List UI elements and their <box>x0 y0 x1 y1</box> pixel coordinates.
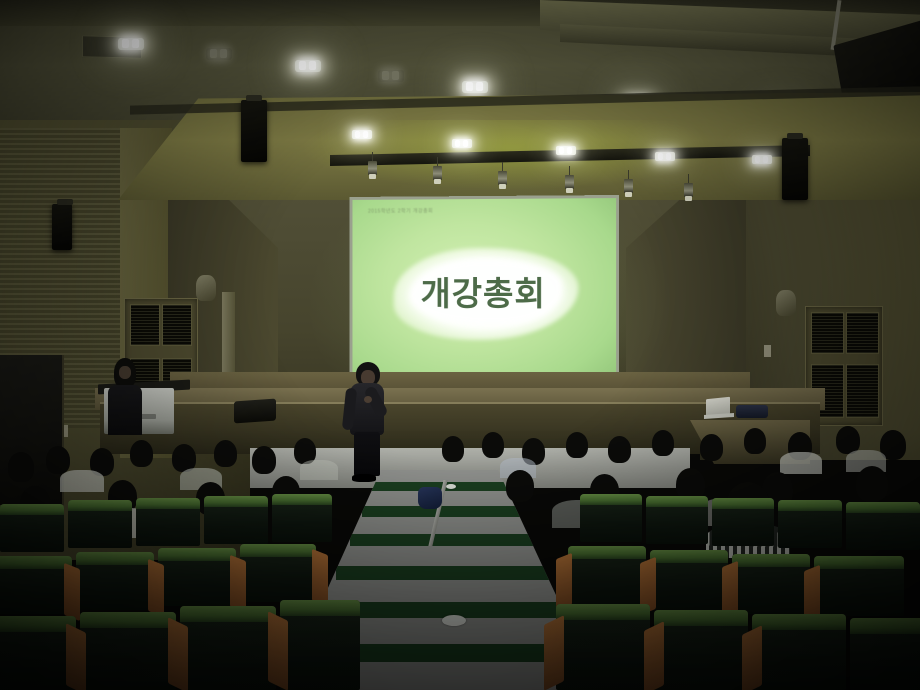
audience-head <box>46 446 70 474</box>
right-vent-louver <box>811 312 844 354</box>
right-vent-louver <box>846 312 879 354</box>
left-vent-louver <box>130 304 160 346</box>
pa-speaker-right <box>782 138 808 200</box>
auditorium-seat[interactable] <box>654 610 748 690</box>
auditorium-seat[interactable] <box>0 556 72 614</box>
equipment-case <box>736 405 768 418</box>
aisle-step-tread <box>350 534 555 546</box>
pa-speaker-side-left <box>52 204 72 250</box>
seat-cushion-top <box>0 616 76 632</box>
slide-title-text: 개강총회 <box>352 267 616 315</box>
auditorium-seat[interactable] <box>712 498 774 546</box>
left-wall-dark-panel <box>0 355 64 505</box>
presenter-shoes <box>352 474 376 482</box>
aisle-step-tread <box>362 506 542 517</box>
soffit-downlight <box>655 152 675 161</box>
auditorium-seat[interactable] <box>204 496 268 544</box>
wall-switch-plate-right[interactable] <box>764 345 771 357</box>
auditorium-seat[interactable] <box>752 614 846 690</box>
audience-head <box>744 428 766 454</box>
slide-header-text: 2015학년도 2학기 개강총회 <box>368 207 433 214</box>
seat-cushion-top <box>646 496 708 507</box>
seat-cushion-top <box>280 600 360 616</box>
auditorium-seat[interactable] <box>646 496 708 544</box>
audience-shoulders <box>300 460 338 480</box>
soffit-downlight <box>752 155 772 164</box>
ceiling-fixture-off <box>378 70 404 82</box>
ceiling-downlight <box>462 81 488 93</box>
seat-cushion-top <box>80 612 176 628</box>
auditorium-seat[interactable] <box>240 544 316 602</box>
stage-spotlight <box>498 171 507 185</box>
auditorium-seat[interactable] <box>846 502 920 550</box>
aisle-step-marker <box>446 484 456 489</box>
seat-armrest <box>64 563 80 621</box>
soffit-downlight <box>352 130 372 139</box>
audience-head <box>214 440 237 467</box>
auditorium-seat[interactable] <box>732 554 810 614</box>
seat-armrest <box>742 625 762 690</box>
auditorium-seat[interactable] <box>778 500 842 548</box>
auditorium-seat[interactable] <box>0 504 64 552</box>
aisle-step-marker <box>442 615 466 626</box>
seat-cushion-top <box>68 500 132 511</box>
auditorium-seat[interactable] <box>280 600 360 690</box>
auditorium-seat[interactable] <box>556 604 650 690</box>
speaker-torso <box>108 385 142 435</box>
stage-spotlight <box>368 161 377 175</box>
audience-head <box>482 432 504 458</box>
auditorium-scene: 2015학년도 2학기 개강총회 개강총회 학생회 <box>0 0 920 690</box>
audience-head <box>130 440 153 467</box>
seat-cushion-top <box>136 498 200 509</box>
auditorium-seat[interactable] <box>272 494 332 542</box>
wall-sconce-left <box>196 275 216 301</box>
seat-cushion-top <box>846 502 920 513</box>
stage-spotlight <box>433 166 442 180</box>
audience-head <box>566 432 588 458</box>
presenter-hand <box>364 396 372 403</box>
seat-cushion-top <box>204 496 268 507</box>
ceiling-downlight <box>295 60 321 72</box>
presenter-in-aisle <box>340 362 392 484</box>
auditorium-seat[interactable] <box>68 500 132 548</box>
ceiling-downlight <box>118 38 144 50</box>
speaker-at-lectern <box>106 358 146 438</box>
auditorium-seat[interactable] <box>136 498 200 546</box>
backpack-on-floor <box>418 487 442 509</box>
auditorium-seat[interactable] <box>814 556 904 616</box>
seat-cushion-top <box>0 504 64 515</box>
auditorium-seat[interactable] <box>76 552 154 610</box>
seat-cushion-top <box>650 550 728 563</box>
seat-cushion-top <box>654 610 748 626</box>
aisle-step-tread <box>336 566 568 580</box>
auditorium-seat[interactable] <box>650 550 728 610</box>
audience-head <box>856 466 888 502</box>
stage-spotlight <box>684 183 693 197</box>
seat-cushion-top <box>240 544 316 557</box>
seat-armrest <box>312 549 328 607</box>
seat-cushion-top <box>0 556 72 569</box>
wall-sconce-right <box>776 290 796 316</box>
seat-cushion-top <box>732 554 810 567</box>
seat-armrest <box>66 623 86 690</box>
auditorium-seat[interactable] <box>0 616 76 690</box>
auditorium-seat[interactable] <box>568 546 646 606</box>
seat-cushion-top <box>76 552 154 565</box>
seat-cushion-top <box>556 604 650 620</box>
seat-armrest <box>644 621 664 690</box>
left-vent-louver <box>162 304 192 346</box>
seat-armrest <box>148 559 164 617</box>
audience-head <box>608 436 631 463</box>
seat-cushion-top <box>272 494 332 505</box>
audience-shoulders <box>780 452 822 474</box>
audience-shoulders <box>60 470 104 492</box>
seat-cushion-top <box>850 618 920 634</box>
seat-cushion-top <box>712 498 774 509</box>
audience-head <box>652 430 674 456</box>
seat-cushion-top <box>180 606 276 622</box>
seat-armrest <box>268 611 288 690</box>
seat-cushion-top <box>568 546 646 559</box>
stage-spotlight <box>565 175 574 189</box>
stage-monitor-speaker <box>234 399 276 424</box>
stage-spotlight <box>624 179 633 193</box>
seat-cushion-top <box>778 500 842 511</box>
seat-armrest <box>556 553 572 611</box>
auditorium-seat[interactable] <box>180 606 276 690</box>
projection-screen-surface: 2015학년도 2학기 개강총회 개강총회 학생회 <box>352 198 616 390</box>
auditorium-seat[interactable] <box>580 494 642 542</box>
ceiling-fixture-off <box>206 48 232 60</box>
soffit-downlight <box>556 146 576 155</box>
audience-head <box>506 470 534 502</box>
seat-cushion-top <box>158 548 236 561</box>
seat-cushion-top <box>580 494 642 505</box>
audience-head <box>442 436 464 462</box>
presenter-legs <box>354 432 380 476</box>
auditorium-seat[interactable] <box>850 618 920 690</box>
seat-cushion-top <box>752 614 846 630</box>
soffit-downlight <box>452 139 472 148</box>
right-vent-louver <box>846 364 879 418</box>
seat-armrest <box>230 555 246 613</box>
audience-head <box>8 452 34 482</box>
auditorium-seat[interactable] <box>80 612 176 690</box>
seat-cushion-top <box>814 556 904 569</box>
seat-armrest <box>544 615 564 690</box>
audience-head <box>252 446 276 474</box>
speaker-face <box>119 366 131 379</box>
auditorium-seat[interactable] <box>158 548 236 606</box>
audience-head <box>700 434 723 461</box>
seat-armrest <box>168 617 188 690</box>
pa-speaker-left <box>241 100 267 162</box>
